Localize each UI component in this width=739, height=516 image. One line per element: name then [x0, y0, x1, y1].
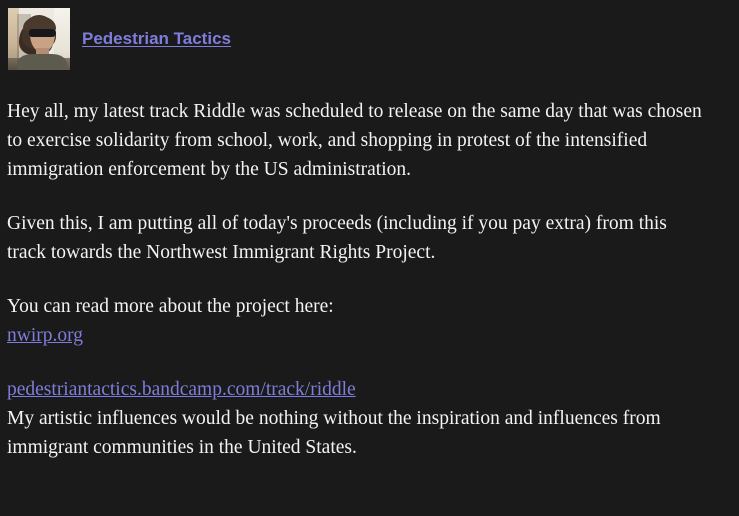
avatar-torso [17, 54, 67, 70]
link-line-nwirp: nwirp.org [7, 321, 710, 350]
link-line-bandcamp: pedestriantactics.bandcamp.com/track/rid… [7, 375, 710, 404]
post-header: Pedestrian Tactics [0, 0, 739, 70]
post-container: Pedestrian Tactics Hey all, my latest tr… [0, 0, 739, 516]
post-paragraph-closing: My artistic influences would be nothing … [7, 404, 710, 462]
post-body: Hey all, my latest track Riddle was sche… [0, 97, 739, 462]
sunglasses-icon [29, 29, 56, 37]
avatar[interactable] [8, 8, 70, 70]
post-paragraph-2: Given this, I am putting all of today's … [7, 209, 710, 267]
bandcamp-track-link[interactable]: pedestriantactics.bandcamp.com/track/rid… [7, 379, 356, 400]
post-paragraph-3: You can read more about the project here… [7, 292, 710, 321]
account-name-link[interactable]: Pedestrian Tactics [82, 29, 231, 49]
header-body-gap [0, 70, 739, 97]
nwirp-link[interactable]: nwirp.org [7, 325, 83, 346]
post-paragraph-1: Hey all, my latest track Riddle was sche… [7, 97, 710, 184]
